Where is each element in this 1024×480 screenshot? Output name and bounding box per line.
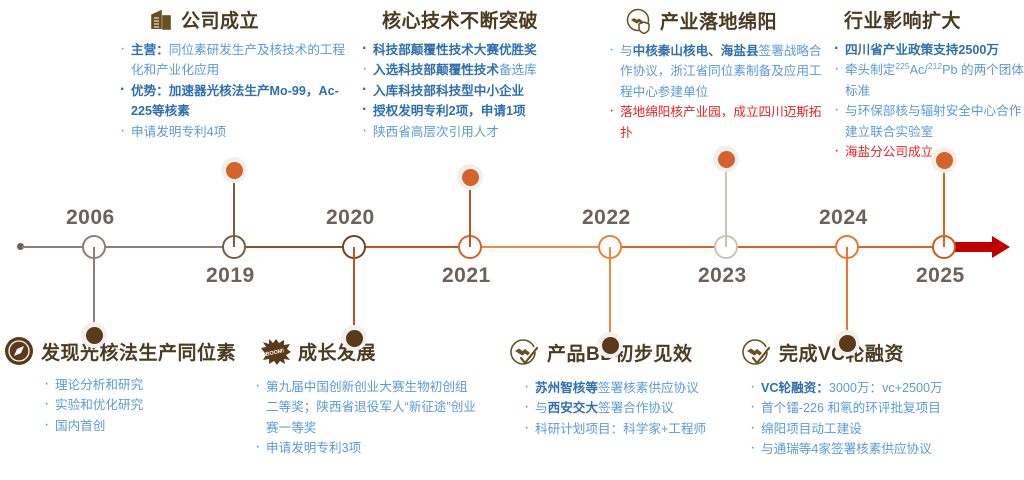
bullet-item: 入库科技部科技型中小企业 bbox=[360, 81, 590, 101]
panel-industry-influence-expanded: 行业影响扩大 四川省产业政策支持2500万牵头制定225Ac/212Pb 的两个… bbox=[832, 6, 1024, 163]
panel-header: 产品BD初步见效 bbox=[508, 336, 748, 368]
bullet-item: 首个镭-226 和氡的环评批复项目 bbox=[748, 398, 1005, 418]
bullet-text: 225 bbox=[895, 61, 909, 71]
bullet-item: 苏州智核等签署核素供应协议 bbox=[522, 378, 748, 398]
year-label-2020: 2020 bbox=[326, 206, 375, 230]
panel-header: 完成VC轮融资 bbox=[740, 336, 1005, 368]
bullet-list: 主营：同位素研发生产及核技术的工程化和产业化应用优势：加速器光核法生产Mo-99… bbox=[118, 40, 348, 142]
connector-2021-up-dot[interactable] bbox=[457, 164, 483, 190]
bullet-item: 科研计划项目：科学家+工程师 bbox=[522, 419, 748, 439]
connector-2025-up-stem bbox=[943, 160, 945, 247]
bullet-item: 科技部颠覆性技术大赛优胜奖 bbox=[360, 40, 590, 60]
bullet-text: 西安交大 bbox=[548, 401, 598, 415]
building-icon bbox=[148, 7, 174, 33]
bullet-text: 入选科技部颠覆性技术 bbox=[373, 63, 499, 77]
year-label-2024: 2024 bbox=[819, 206, 868, 230]
bullet-item: 入选科技部颠覆性技术备选库 bbox=[360, 60, 590, 80]
dot-inner bbox=[226, 162, 243, 179]
connector-2023-up-dot[interactable] bbox=[713, 146, 739, 172]
panel-header: 核心技术不断突破 bbox=[360, 6, 590, 33]
timeline-infographic: 20062019202020212022202320242025 公司成立 主营… bbox=[0, 0, 1024, 480]
panel-header: 行业影响扩大 bbox=[832, 6, 1024, 33]
panel-discover-photonuclear: 发现光核法生产同位素 理论分析和研究实验和优化研究国内首创 bbox=[4, 336, 254, 436]
connector-2022-down-stem bbox=[609, 247, 611, 345]
bullet-text: 申请发明专利4项 bbox=[131, 125, 226, 139]
bullet-item: 优势：加速器光核法生产Mo-99，Ac-225等核素 bbox=[118, 81, 348, 122]
bullet-text: Ac/ bbox=[910, 64, 928, 78]
boom-star-icon: BOOM! bbox=[261, 339, 291, 365]
bullet-text: 陕西省高层次引用人才 bbox=[373, 125, 499, 139]
bullet-item: 国内首创 bbox=[42, 416, 254, 436]
bullet-text: 与通瑞等4家签署核素供应协议 bbox=[761, 442, 932, 456]
axis-segment-1 bbox=[22, 246, 244, 248]
year-label-2025: 2025 bbox=[916, 264, 965, 288]
handshake-check-icon bbox=[740, 336, 772, 368]
year-label-2021: 2021 bbox=[442, 264, 491, 288]
dot-inner bbox=[936, 152, 953, 169]
bullet-item: 第九届中国创新创业大赛生物初创组二等奖；陕西省退役军人“新征途”创业赛一等奖 bbox=[253, 377, 478, 438]
bullet-text: 落地绵阳核产业园，成立四川迈斯拓扑 bbox=[620, 105, 822, 139]
connector-2022-down-dot[interactable] bbox=[597, 332, 623, 358]
bullet-item: VC轮融资：3000万：vc+2500万 bbox=[748, 378, 1005, 398]
bullet-item: 与环保部核与辐射安全中心合作建立联合实验室 bbox=[832, 101, 1024, 142]
panel-core-tech-breakthrough: 核心技术不断突破 科技部颠覆性技术大赛优胜奖入选科技部颠覆性技术备选库入库科技部… bbox=[360, 6, 590, 142]
bullet-text: VC轮融资： bbox=[761, 381, 829, 395]
bullet-item: 与西安交大签署合作协议 bbox=[522, 398, 748, 418]
bullet-item: 授权发明专利2项，申请1项 bbox=[360, 101, 590, 121]
bullet-item: 与通瑞等4家签署核素供应协议 bbox=[748, 439, 1005, 459]
bullet-text: 3000万：vc+2500万 bbox=[829, 381, 943, 395]
dot-inner bbox=[346, 330, 363, 347]
bullet-text: 备选库 bbox=[499, 63, 537, 77]
bullet-item: 海盐分公司成立 bbox=[832, 142, 1024, 162]
dot-inner bbox=[462, 169, 479, 186]
bullet-list: 苏州智核等签署核素供应协议与西安交大签署合作协议科研计划项目：科学家+工程师 bbox=[508, 378, 748, 439]
year-label-2006: 2006 bbox=[66, 206, 115, 230]
bullet-list: 与中核秦山核电、海盐县签署战略合作协议，浙江省同位素制备及应用工程中心参建单位落… bbox=[607, 41, 822, 143]
year-label-2023: 2023 bbox=[698, 264, 747, 288]
bullet-item: 理论分析和研究 bbox=[42, 375, 254, 395]
bullet-text: 签署合作协议 bbox=[598, 401, 674, 415]
dot-inner bbox=[718, 151, 735, 168]
bullet-list: 四川省产业政策支持2500万牵头制定225Ac/212Pb 的两个团体标准与环保… bbox=[832, 40, 1024, 163]
panel-title: 产业落地绵阳 bbox=[660, 7, 777, 34]
connector-2023-up-stem bbox=[725, 159, 727, 247]
panel-header: 产业落地绵阳 bbox=[607, 6, 822, 34]
bullet-item: 牵头制定225Ac/212Pb 的两个团体标准 bbox=[832, 60, 1024, 101]
bullet-text: 与 bbox=[620, 44, 633, 58]
bullet-text: 科技部颠覆性技术大赛优胜奖 bbox=[373, 43, 537, 57]
panel-header: 发现光核法生产同位素 bbox=[4, 336, 254, 366]
bullet-text: 等核素 bbox=[152, 104, 190, 118]
connector-2006-dot[interactable] bbox=[81, 322, 107, 348]
bullet-list: 理论分析和研究实验和优化研究国内首创 bbox=[4, 375, 254, 436]
bullet-text: 牵头制定 bbox=[845, 64, 895, 78]
compass-icon bbox=[4, 336, 34, 366]
axis-segment-5 bbox=[618, 246, 958, 248]
bullet-text: 申请发明专利3项 bbox=[266, 441, 361, 455]
bullet-text: 212 bbox=[928, 61, 942, 71]
bullet-text: 海盐分公司成立 bbox=[845, 145, 933, 159]
year-label-2022: 2022 bbox=[582, 206, 631, 230]
bullet-text: 中核秦山核电、海盐县 bbox=[633, 44, 759, 58]
panel-company-founded: 公司成立 主营：同位素研发生产及核技术的工程化和产业化应用优势：加速器光核法生产… bbox=[118, 6, 348, 142]
connector-2019-up-dot[interactable] bbox=[221, 157, 247, 183]
panel-growth-development: BOOM! 成长发展 第九届中国创新创业大赛生物初创组二等奖；陕西省退役军人“新… bbox=[253, 338, 478, 459]
bullet-text: 签署核素供应协议 bbox=[598, 381, 699, 395]
panel-industry-landing-mianyang: 产业落地绵阳 与中核秦山核电、海盐县签署战略合作协议，浙江省同位素制备及应用工程… bbox=[607, 6, 822, 143]
bullet-item: 与中核秦山核电、海盐县签署战略合作协议，浙江省同位素制备及应用工程中心参建单位 bbox=[607, 41, 822, 102]
panel-product-bd-initial-results: 产品BD初步见效 苏州智核等签署核素供应协议与西安交大签署合作协议科研计划项目：… bbox=[508, 336, 748, 439]
bullet-item: 绵阳项目动工建设 bbox=[748, 419, 1005, 439]
connector-2025-up-dot[interactable] bbox=[931, 147, 957, 173]
panel-title: 公司成立 bbox=[181, 6, 259, 33]
bullet-item: 落地绵阳核产业园，成立四川迈斯拓扑 bbox=[607, 102, 822, 143]
bullet-text: 与环保部核与辐射安全中心合作建立联合实验室 bbox=[845, 104, 1021, 138]
panel-title: 行业影响扩大 bbox=[844, 6, 961, 33]
bullet-item: 申请发明专利4项 bbox=[118, 122, 348, 142]
arrow-right-icon bbox=[948, 236, 1010, 258]
bullet-text: 第九届中国创新创业大赛生物初创组二等奖；陕西省退役军人“新征途”创业赛一等奖 bbox=[266, 380, 476, 435]
year-label-2019: 2019 bbox=[206, 264, 255, 288]
bullet-item: 四川省产业政策支持2500万 bbox=[832, 40, 1024, 60]
bullet-text: 首个镭-226 和氡的环评批复项目 bbox=[761, 401, 941, 415]
bullet-text: 与 bbox=[535, 401, 548, 415]
bullet-text: 科研计划项目：科学家+工程师 bbox=[535, 422, 706, 436]
panel-header: 公司成立 bbox=[118, 6, 348, 33]
dot-inner bbox=[839, 335, 856, 352]
bullet-list: 第九届中国创新创业大赛生物初创组二等奖；陕西省退役军人“新征途”创业赛一等奖申请… bbox=[253, 377, 478, 459]
handshake-shield-icon bbox=[625, 6, 653, 34]
bullet-text: 实验和优化研究 bbox=[55, 398, 143, 412]
panel-title: 核心技术不断突破 bbox=[382, 6, 538, 33]
connector-2024-down-stem bbox=[846, 247, 848, 343]
bullet-item: 申请发明专利3项 bbox=[253, 438, 478, 458]
bullet-item: 主营：同位素研发生产及核技术的工程化和产业化应用 bbox=[118, 40, 348, 81]
panel-title: 发现光核法生产同位素 bbox=[41, 338, 236, 365]
connector-2024-down-dot[interactable] bbox=[834, 330, 860, 356]
dot-inner bbox=[602, 337, 619, 354]
panel-vc-round-completed: 完成VC轮融资 VC轮融资：3000万：vc+2500万首个镭-226 和氡的环… bbox=[740, 336, 1005, 460]
bullet-text: 绵阳项目动工建设 bbox=[761, 422, 862, 436]
handshake-check-icon bbox=[508, 336, 540, 368]
bullet-text: 主营： bbox=[131, 43, 169, 57]
bullet-list: VC轮融资：3000万：vc+2500万首个镭-226 和氡的环评批复项目绵阳项… bbox=[740, 378, 1005, 460]
bullet-list: 科技部颠覆性技术大赛优胜奖入选科技部颠覆性技术备选库入库科技部科技型中小企业授权… bbox=[360, 40, 590, 142]
connector-2020-down-dot[interactable] bbox=[341, 325, 367, 351]
bullet-item: 陕西省高层次引用人才 bbox=[360, 122, 590, 142]
bullet-text: 四川省产业政策支持2500万 bbox=[845, 43, 999, 57]
bullet-text: 苏州智核等 bbox=[535, 381, 598, 395]
bullet-item: 实验和优化研究 bbox=[42, 395, 254, 415]
bullet-text: 入库科技部科技型中小企业 bbox=[373, 84, 524, 98]
bullet-text: 授权发明专利2项，申请1项 bbox=[373, 104, 526, 118]
dot-inner bbox=[86, 327, 103, 344]
bullet-text: 国内首创 bbox=[55, 419, 105, 433]
bullet-text: 理论分析和研究 bbox=[55, 378, 143, 392]
